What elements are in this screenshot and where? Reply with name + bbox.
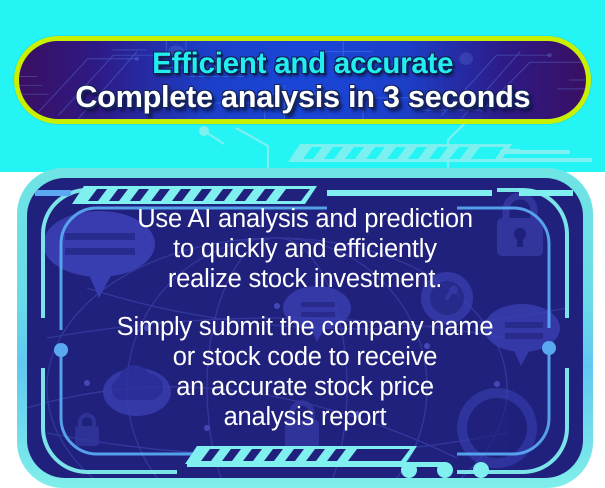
p2-line-4: analysis report	[117, 402, 494, 432]
content-card-inner: Use AI analysis and prediction to quickl…	[27, 178, 583, 478]
left-margin	[0, 172, 17, 488]
p1-line-1: Use AI analysis and prediction	[137, 204, 473, 234]
paragraph-two: Simply submit the company name or stock …	[117, 312, 494, 432]
p2-line-1: Simply submit the company name	[117, 312, 494, 342]
content-card: Use AI analysis and prediction to quickl…	[17, 168, 593, 488]
p2-line-2: or stock code to receive	[117, 342, 494, 372]
p1-line-3: realize stock investment.	[137, 264, 473, 294]
paragraph-one: Use AI analysis and prediction to quickl…	[137, 204, 473, 294]
header-banner: Efficient and accurate Complete analysis…	[14, 36, 591, 124]
p1-line-2: to quickly and efficiently	[137, 234, 473, 264]
banner-title-line2: Complete analysis in 3 seconds	[75, 81, 530, 112]
p2-line-3: an accurate stock price	[117, 372, 494, 402]
right-margin	[593, 176, 605, 476]
banner-title-line1: Efficient and accurate	[152, 49, 453, 79]
promo-banner-stage: Efficient and accurate Complete analysis…	[0, 0, 605, 488]
card-text-block: Use AI analysis and prediction to quickl…	[27, 178, 583, 478]
banner-text-block: Efficient and accurate Complete analysis…	[19, 41, 586, 119]
